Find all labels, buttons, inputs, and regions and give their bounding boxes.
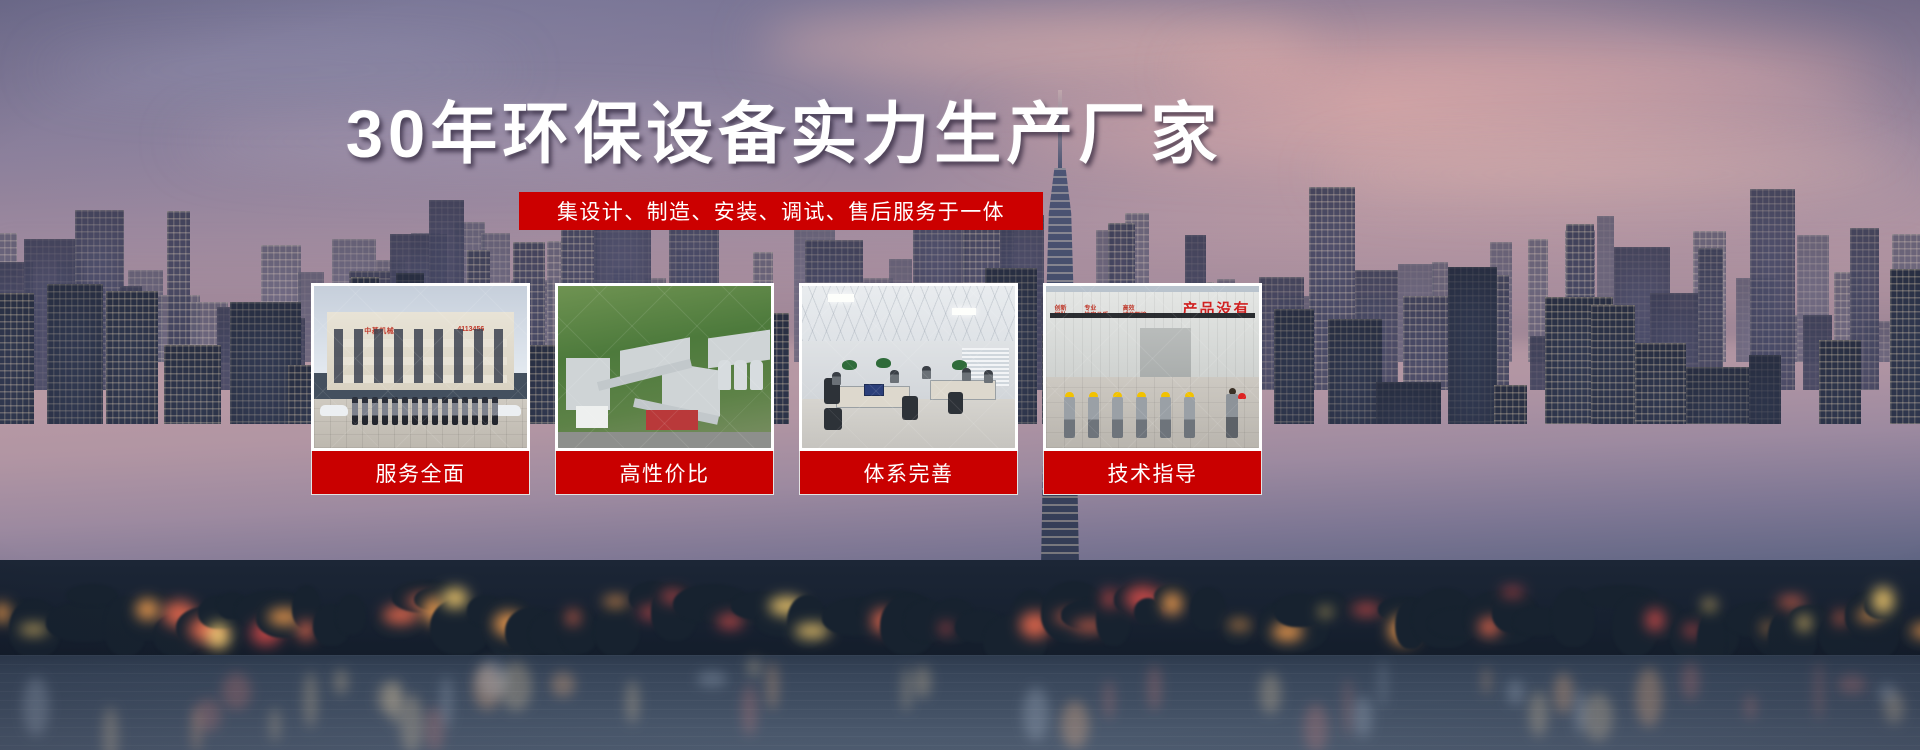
worker-figure — [1088, 392, 1099, 438]
factory-sign-text: 产品没有 — [1182, 298, 1250, 319]
photo-plant-aerial — [558, 286, 771, 448]
staff-figure — [402, 397, 408, 425]
feature-card[interactable]: 产品没有 创新团队 专业快实品质 高效诚信辉煌 — [1043, 283, 1262, 495]
card-image-plant-aerial — [555, 283, 774, 451]
card-label[interactable]: 服务全面 — [311, 451, 530, 495]
building-sign-text: 中基机械 — [364, 326, 394, 336]
staff-figure — [392, 397, 398, 425]
photo-office-building: 中基机械 4113456 — [314, 286, 527, 448]
card-image-factory-workers: 产品没有 创新团队 专业快实品质 高效诚信辉煌 — [1043, 283, 1262, 451]
staff-figure — [492, 397, 498, 425]
factory-slogan: 专业快实品质 — [1084, 306, 1108, 320]
worker-figure — [1184, 392, 1195, 438]
staff-figure — [482, 397, 488, 425]
worker-figure — [1160, 392, 1171, 438]
staff-figure — [452, 397, 458, 425]
feature-card-list: 中基机械 4113456 服务全面 — [311, 283, 1258, 495]
staff-figure — [382, 397, 388, 425]
card-image-office-building: 中基机械 4113456 — [311, 283, 530, 451]
staff-figure — [462, 397, 468, 425]
subtitle-text: 集设计、制造、安装、调试、售后服务于一体 — [557, 196, 1005, 226]
factory-slogan: 高效诚信辉煌 — [1123, 306, 1147, 320]
hero-banner: 30年环保设备实力生产厂家 集设计、制造、安装、调试、售后服务于一体 中基机械 … — [0, 0, 1920, 750]
factory-slogan: 创新团队 — [1055, 306, 1067, 320]
staff-figure — [352, 397, 358, 425]
staff-figure — [362, 397, 368, 425]
feature-card[interactable]: 中基机械 4113456 服务全面 — [311, 283, 530, 495]
manager-figure — [1226, 388, 1238, 438]
photo-office-interior — [802, 286, 1015, 448]
worker-figure — [1136, 392, 1147, 438]
feature-card[interactable]: 高性价比 — [555, 283, 774, 495]
banner-content: 30年环保设备实力生产厂家 集设计、制造、安装、调试、售后服务于一体 中基机械 … — [0, 0, 1920, 750]
red-helmet — [1238, 393, 1246, 399]
card-label[interactable]: 高性价比 — [555, 451, 774, 495]
subtitle-banner: 集设计、制造、安装、调试、售后服务于一体 — [519, 192, 1043, 230]
photo-factory-workers: 产品没有 创新团队 专业快实品质 高效诚信辉煌 — [1046, 286, 1259, 448]
staff-figure — [372, 397, 378, 425]
staff-figure — [412, 397, 418, 425]
worker-figure — [1064, 392, 1075, 438]
worker-figure — [1112, 392, 1123, 438]
staff-figure — [422, 397, 428, 425]
card-label[interactable]: 技术指导 — [1043, 451, 1262, 495]
staff-figure — [472, 397, 478, 425]
staff-figure — [432, 397, 438, 425]
card-image-office-interior — [799, 283, 1018, 451]
page-title: 30年环保设备实力生产厂家 — [0, 101, 1568, 168]
building-phone-text: 4113456 — [457, 326, 484, 333]
feature-card[interactable]: 体系完善 — [799, 283, 1018, 495]
staff-figure — [442, 397, 448, 425]
card-label[interactable]: 体系完善 — [799, 451, 1018, 495]
